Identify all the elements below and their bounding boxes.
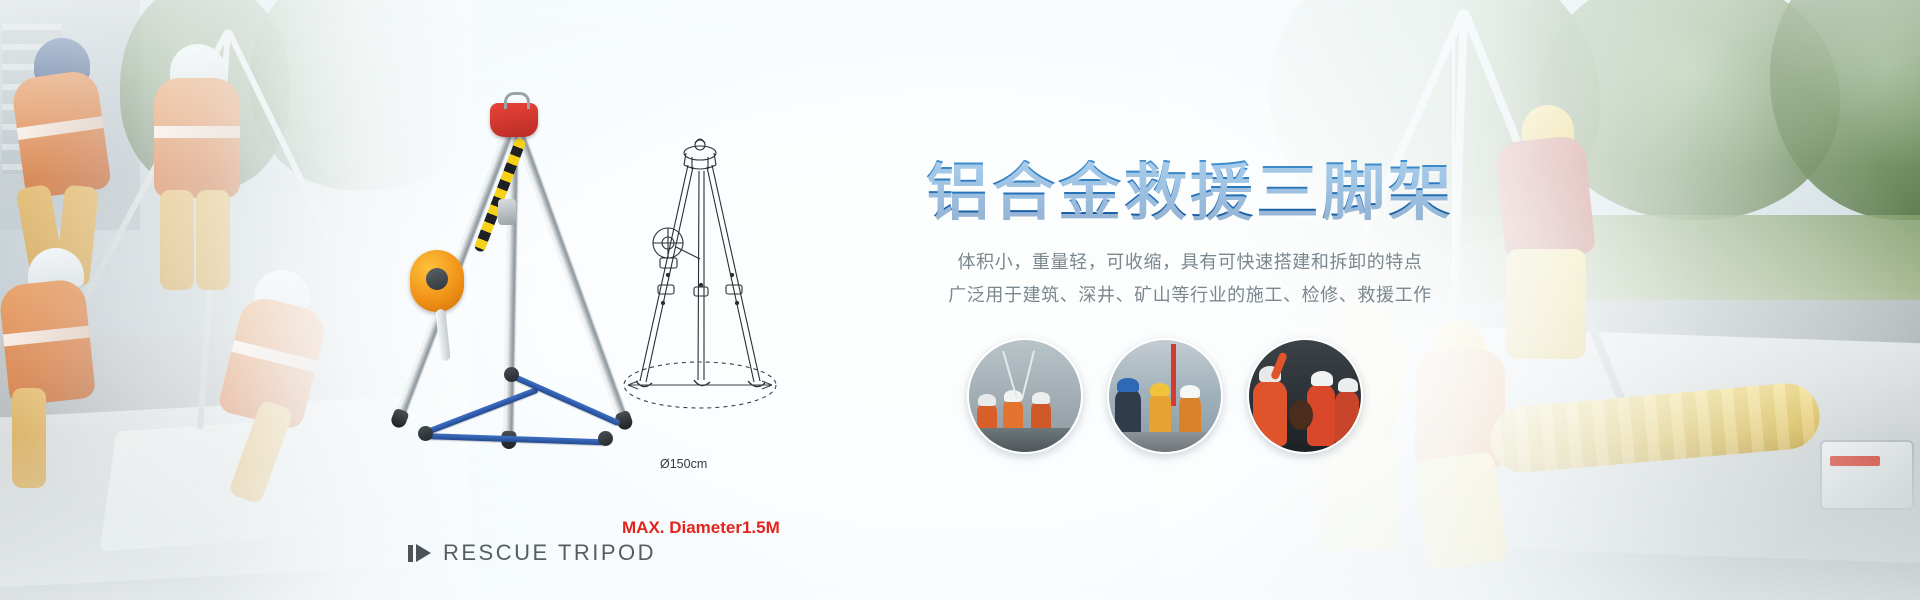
product-tripod-photo bbox=[398, 95, 628, 455]
pulley-bracket bbox=[498, 199, 516, 225]
winch-unit bbox=[410, 250, 464, 312]
subtitle-line-2: 广泛用于建筑、深井、矿山等行业的施工、检修、救援工作 bbox=[920, 280, 1460, 312]
tripod-schematic-svg bbox=[600, 135, 800, 425]
product-banner: RESCUE TRIPOD bbox=[0, 0, 1920, 600]
play-marker-icon bbox=[408, 544, 431, 562]
hardhat-icon bbox=[1150, 383, 1170, 396]
diameter-label: Ø150cm bbox=[660, 457, 707, 471]
gallery-photo-3[interactable] bbox=[1247, 338, 1363, 454]
helmet-icon bbox=[1311, 371, 1333, 386]
subtitle-line-1: 体积小，重量轻，可收缩，具有可快速搭建和拆卸的特点 bbox=[920, 247, 1460, 279]
winch-mount-arm bbox=[435, 309, 450, 362]
banner-text-block: 铝合金救援三脚架 体积小，重量轻，可收缩，具有可快速搭建和拆卸的特点 广泛用于建… bbox=[920, 160, 1460, 312]
page-title: 铝合金救援三脚架 bbox=[920, 160, 1460, 227]
hardhat-icon bbox=[1180, 385, 1200, 398]
product-english-label: RESCUE TRIPOD bbox=[408, 540, 656, 566]
foot-joint bbox=[598, 431, 613, 446]
max-diameter-annotation: MAX. Diameter1.5M bbox=[622, 518, 780, 538]
hardhat-icon bbox=[1032, 392, 1050, 404]
photo-gallery bbox=[967, 338, 1363, 454]
stabilizer-strap bbox=[421, 387, 539, 437]
helmet-icon bbox=[1338, 378, 1358, 392]
rescuer-figure bbox=[1253, 380, 1287, 446]
tripod-head-assembly bbox=[490, 103, 538, 137]
tripod-line-drawing bbox=[600, 135, 800, 425]
rescue-tripod-text: RESCUE TRIPOD bbox=[443, 540, 656, 566]
hardhat-icon bbox=[1117, 378, 1139, 392]
gallery-photo-1[interactable] bbox=[967, 338, 1083, 454]
foot-joint bbox=[504, 367, 519, 382]
gallery-photo-2[interactable] bbox=[1107, 338, 1223, 454]
hardhat-icon bbox=[978, 394, 996, 406]
foot-joint bbox=[418, 426, 433, 441]
rescuer-figure bbox=[1335, 390, 1359, 446]
